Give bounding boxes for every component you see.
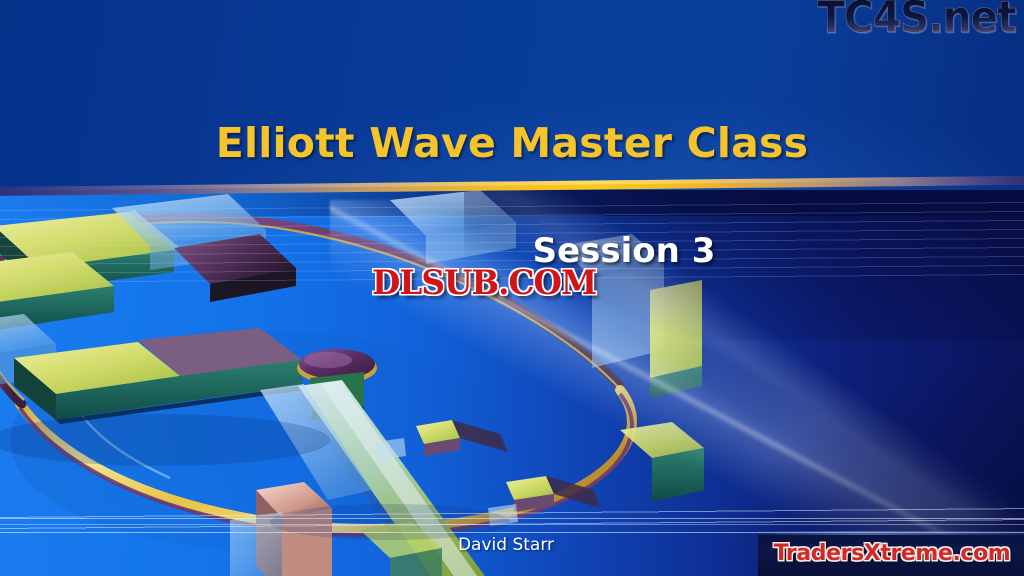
watermark-tradersxtreme: TradersXtreme.com xyxy=(762,541,1022,566)
watermark-bar-highlight xyxy=(758,531,1024,535)
gold-divider xyxy=(0,176,1024,206)
page-title: Elliott Wave Master Class xyxy=(0,119,1024,167)
watermark-tc4s: TC4S.net xyxy=(818,0,1016,40)
streak-line xyxy=(0,524,1024,525)
watermark-dlsub: DLSUB.COM xyxy=(372,263,596,303)
streak-line xyxy=(0,518,1024,519)
presentation-slide: Elliott Wave Master Class Session 3 Davi… xyxy=(0,0,1024,576)
